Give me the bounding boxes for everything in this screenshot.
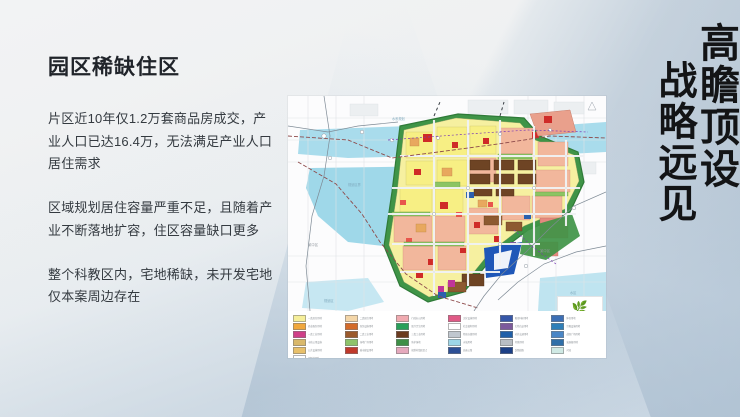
legend-label: 对外交通用地 bbox=[515, 332, 529, 337]
legend-item: 铁路线路 bbox=[500, 347, 550, 354]
legend-label: 规划村镇居民点 bbox=[411, 348, 427, 353]
legend-swatch bbox=[396, 331, 409, 338]
legend-label: 公共设施用地 bbox=[308, 348, 322, 353]
legend-label: 市政公用设施 bbox=[308, 340, 322, 345]
legend-item: 发展备用地 bbox=[551, 339, 601, 346]
legend-swatch bbox=[345, 347, 358, 354]
legend-item: 规划村镇居民点 bbox=[396, 347, 446, 354]
legend-label: 道路广场用地 bbox=[566, 332, 580, 337]
body-paragraph-3: 整个科教区内，宅地稀缺，未开发宅地仅本案周边存在 bbox=[48, 264, 276, 309]
legend-item: 水域用地 bbox=[448, 339, 498, 346]
legend-swatch bbox=[293, 347, 306, 354]
legend-label: 社会福利用地 bbox=[463, 324, 477, 329]
legend-swatch bbox=[500, 347, 513, 354]
legend-label: 高速公路 bbox=[463, 348, 472, 353]
legend-label: 体育用地 bbox=[566, 316, 575, 321]
legend-label: 城市建设用地 bbox=[360, 348, 374, 353]
legend-label: 发展备用地 bbox=[566, 340, 577, 345]
legend-label: 规划范围线 bbox=[308, 356, 319, 358]
body-paragraph-1: 片区近10年仅1.2万套商品房成交，产业人口已达16.4万，无法满足产业人口居住… bbox=[48, 108, 276, 175]
svg-text:某中区: 某中区 bbox=[540, 248, 551, 253]
legend-label: 二类工业用地 bbox=[360, 332, 374, 337]
legend-item: 一类工业用地 bbox=[293, 331, 343, 338]
legend-item: 防护绿地 bbox=[396, 339, 446, 346]
legend-item: 教育科研用地 bbox=[500, 315, 550, 322]
legend-swatch bbox=[448, 347, 461, 354]
svg-text:水系规划: 水系规划 bbox=[392, 116, 405, 121]
legend-item: 社会福利用地 bbox=[448, 323, 498, 330]
svg-text:规划区: 规划区 bbox=[324, 298, 334, 303]
legend-swatch bbox=[448, 315, 461, 322]
legend-item: 商业服务用地 bbox=[293, 323, 343, 330]
legend-swatch bbox=[293, 331, 306, 338]
legend-item: 文物古迹用地 bbox=[500, 323, 550, 330]
legend-label: 铁路线路 bbox=[515, 348, 524, 353]
legend-item: 规划范围线 bbox=[293, 355, 343, 358]
legend-swatch bbox=[345, 331, 358, 338]
presentation-slide: 园区稀缺住区 片区近10年仅1.2万套商品房成交，产业人口已达16.4万，无法满… bbox=[0, 0, 740, 417]
legend-swatch bbox=[345, 323, 358, 330]
legend-label: 教育科研用地 bbox=[515, 316, 529, 321]
legend-label: 一类居住用地 bbox=[308, 316, 322, 321]
legend-item: 二类工业用地 bbox=[345, 331, 395, 338]
map-legend: 一类居住用地二类居住用地行政办公用地文化设施用地教育科研用地体育用地商业服务用地… bbox=[288, 311, 606, 358]
legend-swatch bbox=[551, 339, 564, 346]
legend-swatch bbox=[500, 315, 513, 322]
legend-swatch bbox=[551, 347, 564, 354]
legend-item: 市政公用设施 bbox=[293, 339, 343, 346]
legend-swatch bbox=[551, 323, 564, 330]
legend-item: 文化设施用地 bbox=[448, 315, 498, 322]
body-paragraph-2: 区域规划居住容量严重不足，且随着产业不断落地扩容，住区容量缺口更多 bbox=[48, 197, 276, 242]
legend-item: 物流仓储用地 bbox=[448, 331, 498, 338]
legend-item: 二类居住用地 bbox=[345, 315, 395, 322]
legend-item: 医疗卫生用地 bbox=[396, 323, 446, 330]
legend-swatch bbox=[293, 315, 306, 322]
legend-swatch bbox=[551, 331, 564, 338]
legend-item: 对外交通用地 bbox=[500, 331, 550, 338]
legend-item: 体育用地 bbox=[551, 315, 601, 322]
page-title: 园区稀缺住区 bbox=[48, 55, 276, 80]
vertical-headline: 战略远见 高瞻顶设 bbox=[655, 22, 736, 224]
map-legend-grid: 一类居住用地二类居住用地行政办公用地文化设施用地教育科研用地体育用地商业服务用地… bbox=[293, 315, 601, 358]
legend-swatch bbox=[293, 339, 306, 346]
vertical-headline-column-left: 战略远见 bbox=[655, 60, 694, 224]
legend-item: 公共设施用地 bbox=[293, 347, 343, 354]
legend-swatch bbox=[448, 323, 461, 330]
svg-text:水区: 水区 bbox=[570, 290, 577, 295]
legend-item: 宗教设施用地 bbox=[551, 323, 601, 330]
legend-label: 宗教设施用地 bbox=[566, 324, 580, 329]
legend-label: 文物古迹用地 bbox=[515, 324, 529, 329]
legend-label: 商业服务用地 bbox=[308, 324, 322, 329]
legend-label: 河流 bbox=[566, 348, 571, 353]
legend-label: 物流仓储用地 bbox=[463, 332, 477, 337]
legend-item: 商务设施用地 bbox=[345, 323, 395, 330]
legend-swatch bbox=[396, 347, 409, 354]
legend-swatch bbox=[293, 323, 306, 330]
legend-label: 文化设施用地 bbox=[463, 316, 477, 321]
legend-swatch bbox=[448, 331, 461, 338]
legend-swatch bbox=[345, 339, 358, 346]
vertical-headline-column-right: 高瞻顶设 bbox=[696, 22, 736, 190]
legend-swatch bbox=[396, 339, 409, 346]
legend-item: 道路广场用地 bbox=[551, 331, 601, 338]
legend-label: 一类工业用地 bbox=[308, 332, 322, 337]
legend-swatch bbox=[500, 323, 513, 330]
map-card[interactable]: 水系规划 规划区界 某中区 某中区 水区 规划区 🌿 规划设计研究院 PLANN… bbox=[288, 96, 606, 358]
legend-item: 行政办公用地 bbox=[396, 315, 446, 322]
text-column: 园区稀缺住区 片区近10年仅1.2万套商品房成交，产业人口已达16.4万，无法满… bbox=[48, 55, 276, 309]
legend-swatch bbox=[448, 339, 461, 346]
legend-item: 河流 bbox=[551, 347, 601, 354]
land-use-map[interactable]: 水系规划 规划区界 某中区 某中区 水区 规划区 bbox=[288, 96, 606, 311]
legend-item: 城市建设用地 bbox=[345, 347, 395, 354]
legend-item: 特殊用地 bbox=[500, 339, 550, 346]
legend-swatch bbox=[396, 323, 409, 330]
legend-swatch bbox=[396, 315, 409, 322]
legend-label: 特殊用地 bbox=[515, 340, 524, 345]
legend-label: 防护绿地 bbox=[411, 340, 420, 345]
legend-swatch bbox=[500, 331, 513, 338]
legend-swatch bbox=[500, 339, 513, 346]
legend-item: 绿地广场用地 bbox=[345, 339, 395, 346]
legend-label: 绿地广场用地 bbox=[360, 340, 374, 345]
legend-label: 水域用地 bbox=[463, 340, 472, 345]
legend-label: 医疗卫生用地 bbox=[411, 324, 425, 329]
legend-swatch bbox=[293, 355, 306, 358]
legend-swatch bbox=[345, 315, 358, 322]
svg-text:规划区界: 规划区界 bbox=[348, 182, 362, 187]
svg-text:某中区: 某中区 bbox=[308, 242, 319, 247]
legend-label: 行政办公用地 bbox=[411, 316, 425, 321]
legend-label: 三类工业用地 bbox=[411, 332, 425, 337]
legend-item: 一类居住用地 bbox=[293, 315, 343, 322]
legend-label: 商务设施用地 bbox=[360, 324, 374, 329]
legend-swatch bbox=[551, 315, 564, 322]
legend-item: 高速公路 bbox=[448, 347, 498, 354]
legend-item: 三类工业用地 bbox=[396, 331, 446, 338]
legend-label: 二类居住用地 bbox=[360, 316, 374, 321]
